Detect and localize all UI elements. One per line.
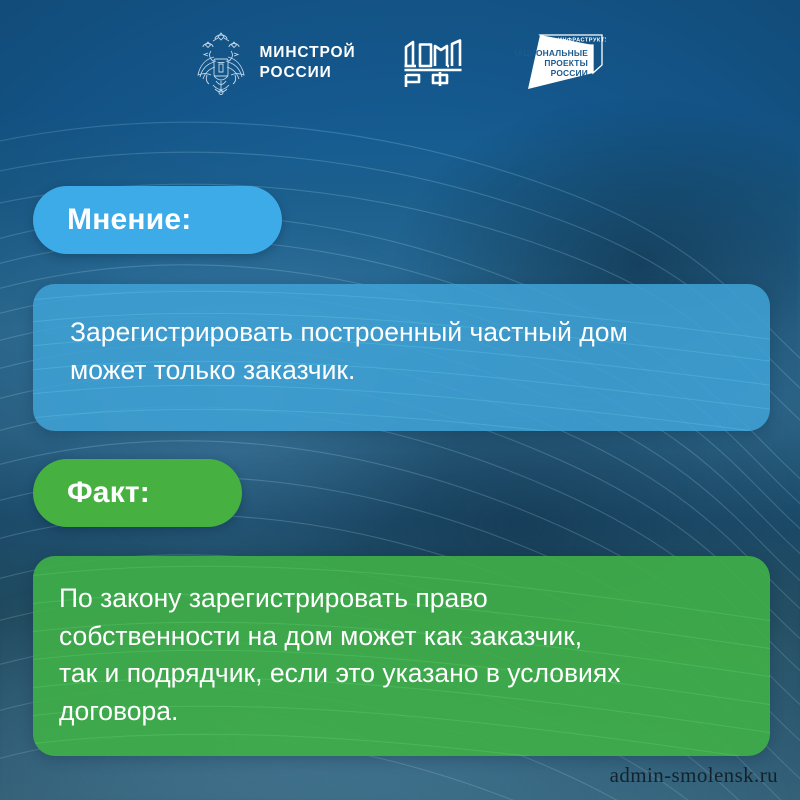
opinion-label-pill: Мнение: [33,186,282,254]
np-line1-text: НАЦИОНАЛЬНЫЕ [514,48,588,58]
logo-header: МИНСТРОЙ РОССИИ [0,22,800,104]
minstroy-logo-text: МИНСТРОЙ РОССИИ [259,43,355,83]
opinion-text: Зарегистрировать построенный частный дом… [33,284,770,389]
dom-rf-logo [402,35,468,91]
np-line3-text: РОССИИ [550,68,587,78]
national-projects-logo: ИНФРАСТРУКТУРА НАЦИОНАЛЬНЫЕ ПРОЕКТЫ РОСС… [514,27,606,99]
np-kicker-text: ИНФРАСТРУКТУРА [558,38,606,44]
opinion-label-text: Мнение: [67,203,191,237]
fact-label-pill: Факт: [33,459,242,527]
fact-card: По закону зарегистрировать право собстве… [33,556,770,756]
infographic-canvas: МИНСТРОЙ РОССИИ [0,0,800,800]
fact-text: По закону зарегистрировать право собстве… [33,556,770,731]
site-watermark: admin-smolensk.ru [610,763,778,788]
russian-coat-of-arms-icon [194,29,248,97]
np-line2-text: ПРОЕКТЫ [544,58,588,68]
opinion-card: Зарегистрировать построенный частный дом… [33,284,770,431]
fact-label-text: Факт: [67,476,150,510]
minstroy-logo: МИНСТРОЙ РОССИИ [194,29,355,97]
